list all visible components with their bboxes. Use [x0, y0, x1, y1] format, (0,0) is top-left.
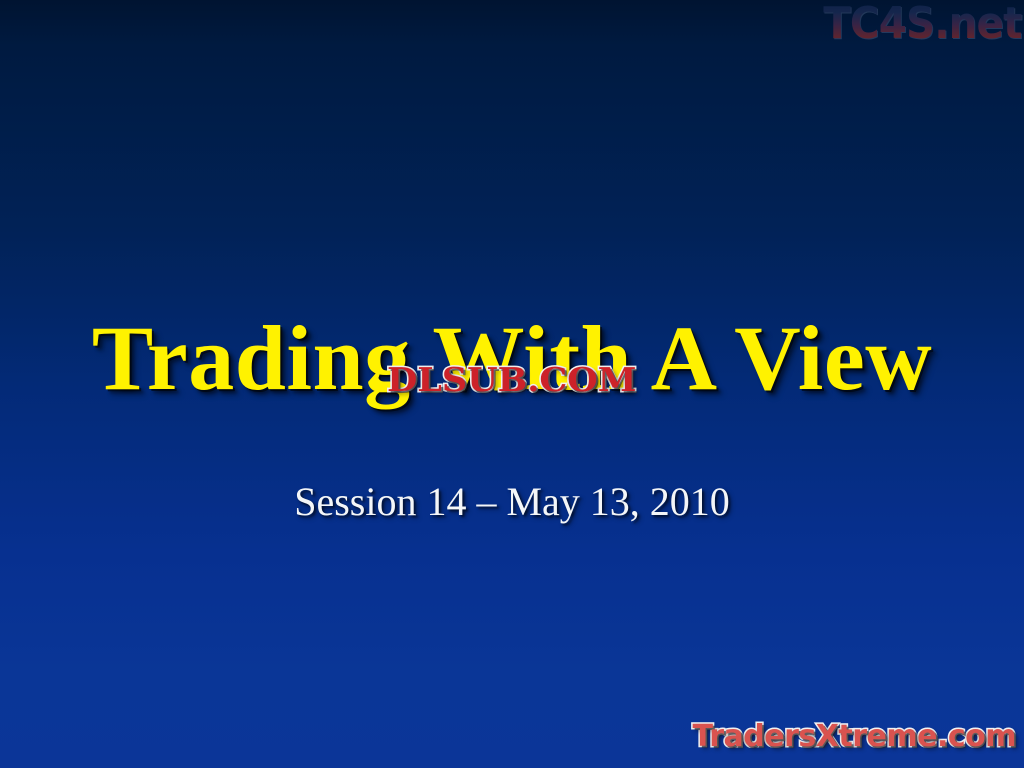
- tc4s-watermark: TC4S.net: [806, 0, 1022, 50]
- tc4s-watermark-text: TC4S.net: [824, 0, 1022, 50]
- tradersxtreme-watermark-text: TradersXtreme.com: [693, 718, 1016, 756]
- presentation-slide: TC4S.net Trading With A View DLSUB.COM S…: [0, 0, 1024, 768]
- title-block: Trading With A View: [0, 250, 1024, 465]
- tradersxtreme-watermark: TradersXtreme.com: [693, 718, 1016, 756]
- slide-title: Trading With A View: [92, 312, 932, 404]
- subtitle-block: Session 14 – May 13, 2010: [0, 440, 1024, 564]
- slide-subtitle: Session 14 – May 13, 2010: [294, 480, 730, 524]
